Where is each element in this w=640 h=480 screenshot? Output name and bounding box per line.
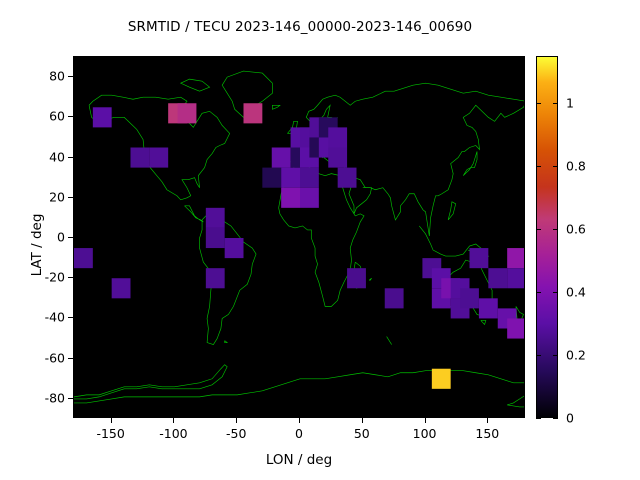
data-cell xyxy=(347,268,366,288)
colorbar-tick-mark xyxy=(553,229,558,230)
data-cell xyxy=(131,148,150,168)
data-cell xyxy=(328,127,347,147)
data-cell xyxy=(432,369,451,389)
y-tick-label: -60 xyxy=(21,350,65,365)
data-cell xyxy=(488,268,507,288)
colorbar-tick-label: 0.4 xyxy=(566,285,586,300)
colorbar-tick-label: 0 xyxy=(566,411,574,426)
data-cell xyxy=(149,148,168,168)
data-cell xyxy=(112,278,131,298)
y-tick-label: 60 xyxy=(21,109,65,124)
x-tick-label: 100 xyxy=(413,426,437,441)
y-tick-label: -80 xyxy=(21,390,65,405)
data-cell xyxy=(328,148,347,168)
y-tick-mark xyxy=(68,358,73,359)
x-tick-mark xyxy=(173,418,174,423)
x-tick-mark xyxy=(299,418,300,423)
data-cell xyxy=(262,168,281,188)
data-cell xyxy=(178,103,197,123)
y-tick-mark xyxy=(68,237,73,238)
colorbar-tick-mark xyxy=(553,418,558,419)
y-tick-mark xyxy=(68,197,73,198)
x-axis-label: LON / deg xyxy=(73,452,525,468)
data-cell xyxy=(206,228,225,248)
colorbar-tick-mark xyxy=(536,292,541,293)
colorbar-tick-mark xyxy=(536,166,541,167)
colorbar-tick-mark xyxy=(553,103,558,104)
colorbar-tick-mark xyxy=(553,292,558,293)
colorbar-tick-label: 0.6 xyxy=(566,222,586,237)
x-tick-label: 150 xyxy=(475,426,499,441)
data-cell xyxy=(93,107,112,127)
x-tick-label: -100 xyxy=(159,426,187,441)
colorbar-gradient xyxy=(537,57,557,417)
y-tick-mark xyxy=(68,277,73,278)
data-cell xyxy=(300,168,319,188)
x-tick-label: 50 xyxy=(354,426,370,441)
data-cell xyxy=(74,248,93,268)
y-tick-label: 80 xyxy=(21,69,65,84)
data-cell xyxy=(470,248,489,268)
x-tick-mark xyxy=(236,418,237,423)
data-cell xyxy=(460,288,479,308)
colorbar-tick-mark xyxy=(536,229,541,230)
colorbar-tick-label: 0.2 xyxy=(566,348,586,363)
plot-area xyxy=(73,56,525,418)
x-tick-label: -150 xyxy=(96,426,124,441)
colorbar-tick-label: 1 xyxy=(566,96,574,111)
data-cell xyxy=(281,188,300,208)
data-cell xyxy=(507,248,525,268)
x-tick-mark xyxy=(362,418,363,423)
data-cell xyxy=(507,268,525,288)
y-tick-mark xyxy=(68,398,73,399)
data-cell xyxy=(479,298,498,318)
colorbar-tick-mark xyxy=(553,166,558,167)
x-tick-label: -50 xyxy=(226,426,246,441)
data-cell xyxy=(281,168,300,188)
y-axis-label: LAT / deg xyxy=(29,145,45,345)
data-cell xyxy=(338,168,357,188)
colorbar-tick-mark xyxy=(553,355,558,356)
plot-figure: SRMTID / TECU 2023-146_00000-2023-146_00… xyxy=(0,0,640,480)
data-cell xyxy=(507,318,525,338)
x-tick-mark xyxy=(111,418,112,423)
data-cell xyxy=(300,188,319,208)
x-tick-mark xyxy=(425,418,426,423)
page-title: SRMTID / TECU 2023-146_00000-2023-146_00… xyxy=(0,19,600,35)
x-tick-label: 0 xyxy=(295,426,303,441)
data-cell xyxy=(385,288,404,308)
y-tick-mark xyxy=(68,76,73,77)
data-cell xyxy=(244,103,263,123)
data-cell xyxy=(225,238,244,258)
x-tick-mark xyxy=(487,418,488,423)
y-tick-mark xyxy=(68,317,73,318)
y-tick-mark xyxy=(68,116,73,117)
colorbar-tick-mark xyxy=(536,103,541,104)
colorbar xyxy=(536,56,558,418)
y-tick-mark xyxy=(68,157,73,158)
data-cells-layer xyxy=(74,57,525,418)
data-cell xyxy=(272,148,291,168)
colorbar-tick-mark xyxy=(536,418,541,419)
data-cell xyxy=(206,268,225,288)
data-cell xyxy=(206,208,225,228)
colorbar-tick-label: 0.8 xyxy=(566,159,586,174)
colorbar-tick-mark xyxy=(536,355,541,356)
